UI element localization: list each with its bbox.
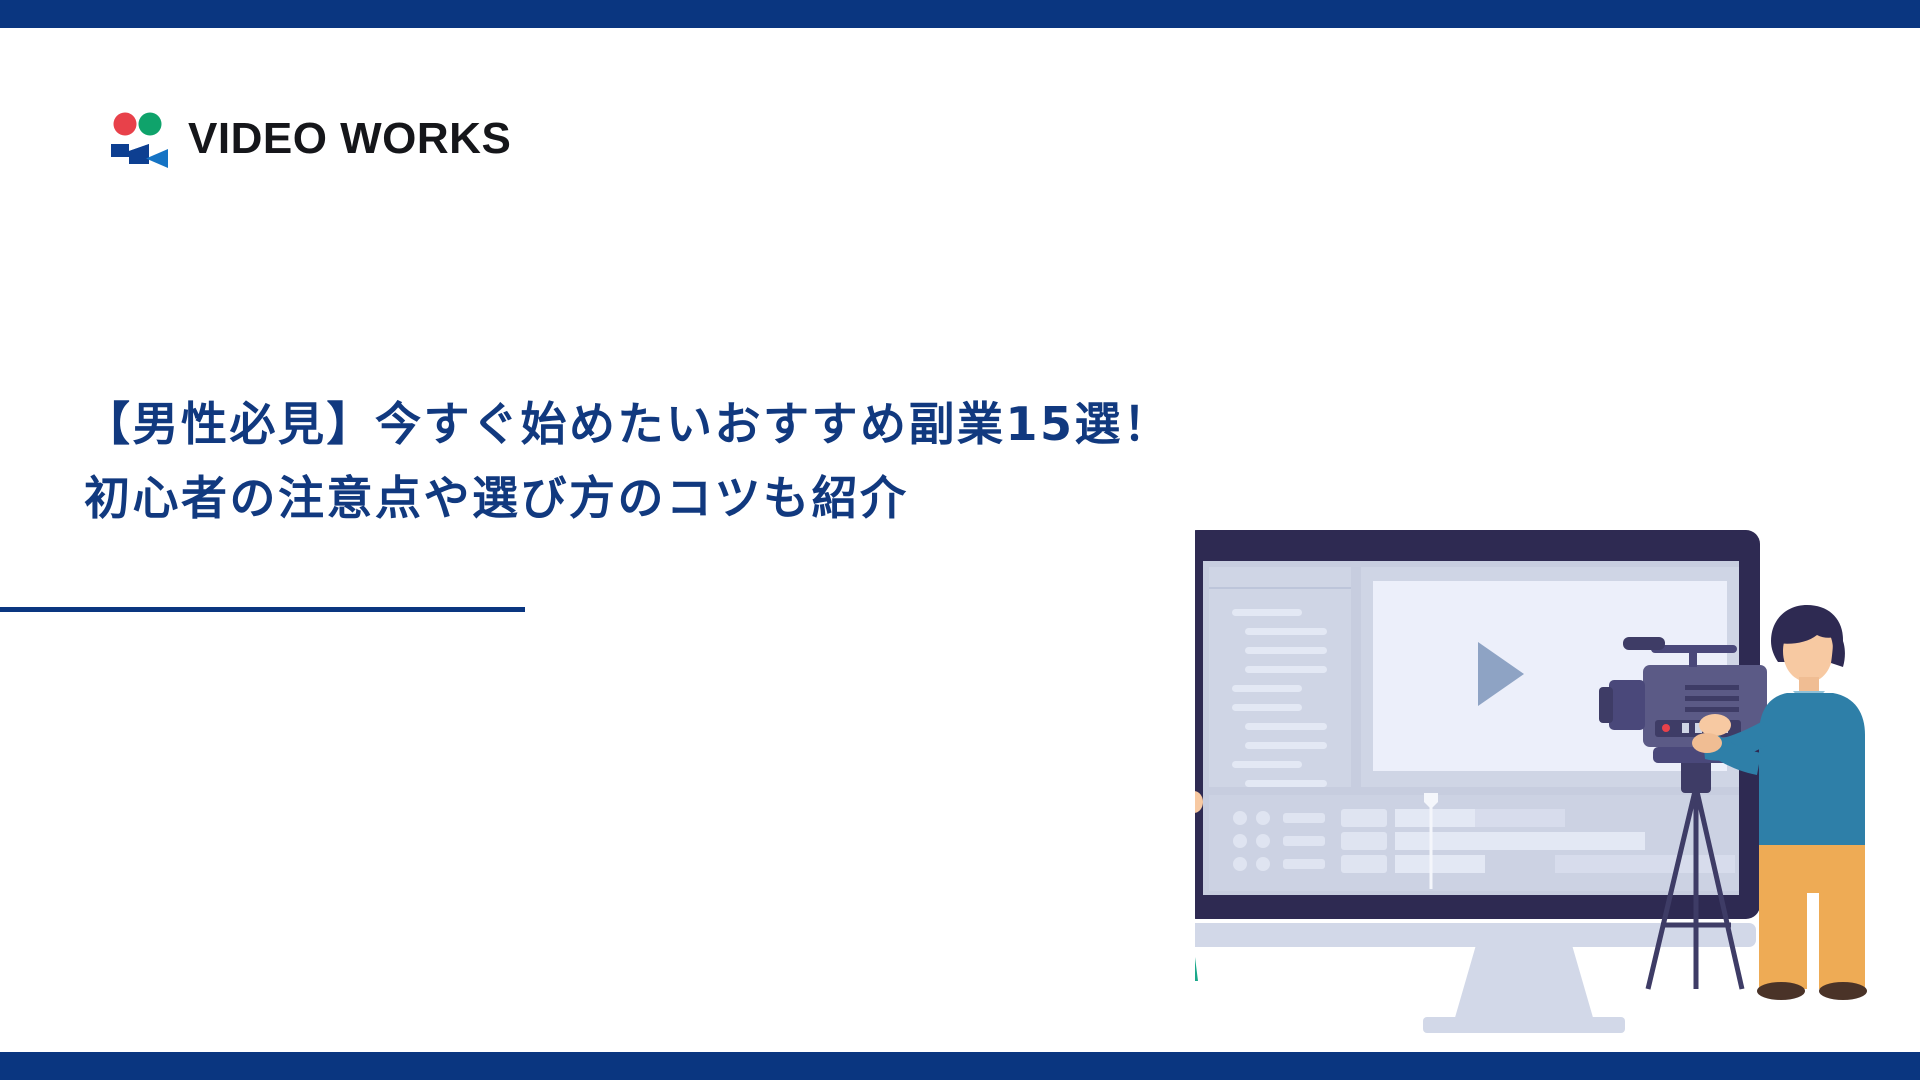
title-divider-rule <box>0 607 525 612</box>
page-title-line-1: 【男性必見】今すぐ始めたいおすすめ副業15選！ <box>84 387 1504 462</box>
page-title: 【男性必見】今すぐ始めたいおすすめ副業15選！ 初心者の注意点や選び方のコツも紹… <box>84 387 1504 536</box>
video-works-logo-icon <box>108 108 170 170</box>
monitor-stand <box>1423 945 1625 1033</box>
brand-logo: VIDEO WORKS <box>108 108 511 170</box>
top-accent-bar <box>0 0 1920 28</box>
brand-wordmark: VIDEO WORKS <box>188 117 511 161</box>
video-production-illustration <box>1195 525 1920 1037</box>
bottom-accent-bar <box>0 1052 1920 1080</box>
